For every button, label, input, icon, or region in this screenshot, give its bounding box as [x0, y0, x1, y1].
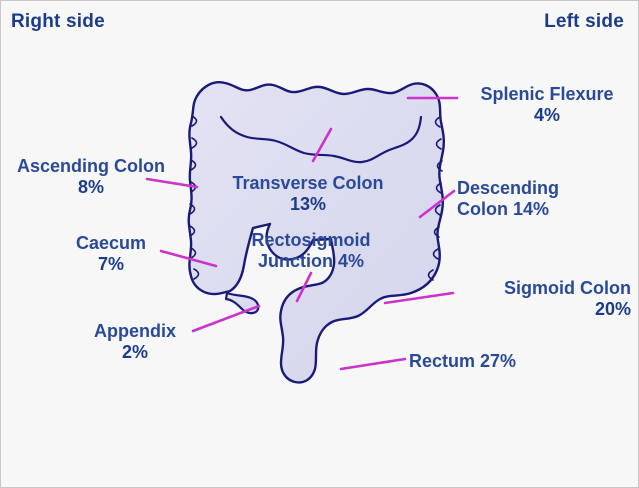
label-splenic-flexure-percent: 4%	[461, 105, 633, 126]
label-sigmoid-colon-name: Sigmoid Colon	[504, 278, 631, 298]
label-descending-colon-name-line1: Descending	[457, 178, 559, 198]
leader-line-appendix	[193, 306, 259, 331]
label-rectum-name-and-percent: Rectum 27%	[409, 351, 516, 371]
colon-diagram-figure: Right side Left side Ascending Colon 8% …	[0, 0, 639, 488]
label-sigmoid-colon: Sigmoid Colon 20%	[453, 278, 631, 320]
label-caecum-name: Caecum	[76, 233, 146, 253]
label-rectum: Rectum 27%	[409, 351, 599, 372]
label-descending-colon: Descending Colon 14%	[457, 178, 637, 220]
label-ascending-colon-name: Ascending Colon	[17, 156, 165, 176]
label-rectosigmoid-junction: Rectosigmoid Junction 4%	[241, 230, 381, 272]
label-splenic-flexure-name: Splenic Flexure	[480, 84, 613, 104]
label-ascending-colon: Ascending Colon 8%	[5, 156, 177, 198]
orientation-label-right: Right side	[11, 11, 105, 33]
label-rectosigmoid-junction-name-line1: Rectosigmoid	[251, 230, 370, 250]
label-sigmoid-colon-percent: 20%	[453, 299, 631, 320]
label-ascending-colon-percent: 8%	[5, 177, 177, 198]
label-appendix-percent: 2%	[79, 342, 191, 363]
label-splenic-flexure: Splenic Flexure 4%	[461, 84, 633, 126]
label-appendix: Appendix 2%	[79, 321, 191, 363]
orientation-label-left: Left side	[544, 11, 624, 33]
label-rectosigmoid-junction-name-line2: Junction 4%	[241, 251, 381, 272]
appendix-shape	[226, 293, 258, 313]
label-appendix-name: Appendix	[94, 321, 176, 341]
label-caecum: Caecum 7%	[63, 233, 159, 275]
label-transverse-colon: Transverse Colon 13%	[223, 173, 393, 215]
label-transverse-colon-percent: 13%	[223, 194, 393, 215]
leader-line-rectum	[341, 359, 405, 369]
label-transverse-colon-name: Transverse Colon	[232, 173, 383, 193]
label-descending-colon-name-line2: Colon 14%	[457, 199, 637, 220]
label-caecum-percent: 7%	[63, 254, 159, 275]
